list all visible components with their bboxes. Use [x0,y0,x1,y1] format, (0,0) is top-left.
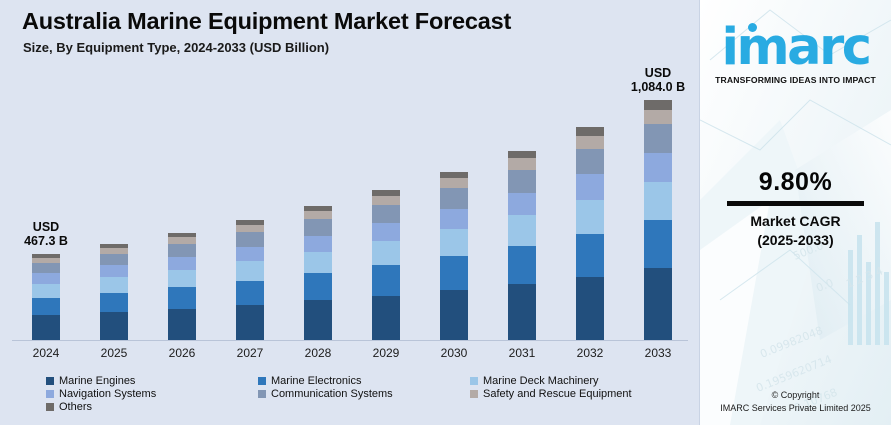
infographic-root: Australia Marine Equipment Market Foreca… [0,0,891,425]
cagr-label-period: (2025-2033) [700,231,891,250]
bar-group-2026[interactable] [148,0,216,341]
legend-label: Communication Systems [271,388,393,400]
bar-segment-marine-electronics[interactable] [508,246,536,284]
x-tick-2026: 2026 [148,346,216,360]
bar-segment-marine-engines[interactable] [304,300,332,341]
logo-wordmark: imarc [722,22,870,74]
brand-panel: 500.0 0.0 1 2 3 4 0.09982048 0.195962071… [700,0,891,425]
stacked-bar[interactable] [440,171,468,341]
x-tick-2033: 2033 [624,346,692,360]
legend-row: Marine EnginesMarine ElectronicsMarine D… [46,374,696,387]
bar-segment-communication-systems[interactable] [32,263,60,273]
stacked-bar[interactable] [576,127,604,341]
bar-segment-marine-engines[interactable] [236,305,264,341]
legend-swatch-icon [258,390,266,398]
bar-segment-safety-and-rescue-equipment[interactable] [372,196,400,205]
x-tick-2030: 2030 [420,346,488,360]
bar-group-2030[interactable] [420,0,488,341]
bar-segment-others[interactable] [440,172,468,179]
x-axis-tick-labels: 2024202520262027202820292030203120322033 [0,344,700,366]
x-tick-2025: 2025 [80,346,148,360]
chart-legend: Marine EnginesMarine ElectronicsMarine D… [46,374,696,413]
bar-group-2031[interactable] [488,0,556,341]
imarc-logo: imarc TRANSFORMING IDEAS INTO IMPACT [700,22,891,85]
legend-item-communication-systems[interactable]: Communication Systems [258,387,470,400]
cagr-value: 9.80% [700,168,891,197]
bar-segment-marine-deck-machinery[interactable] [372,241,400,265]
annotation-unit: USD [618,66,698,80]
bar-group-2032[interactable] [556,0,624,341]
bar-segment-marine-electronics[interactable] [440,256,468,290]
bar-segment-marine-electronics[interactable] [100,293,128,312]
bar-segment-safety-and-rescue-equipment[interactable] [644,110,672,124]
bar-segment-marine-engines[interactable] [440,290,468,341]
bar-segment-marine-engines[interactable] [168,309,196,341]
legend-label: Others [59,401,92,413]
bar-segment-others[interactable] [508,151,536,159]
copyright-line-1: © Copyright [700,389,891,402]
bar-segment-marine-deck-machinery[interactable] [32,284,60,298]
bar-segment-marine-electronics[interactable] [236,281,264,305]
bar-group-2027[interactable] [216,0,284,341]
bar-segment-navigation-systems[interactable] [100,265,128,277]
bar-segment-marine-deck-machinery[interactable] [644,182,672,220]
bar-segment-safety-and-rescue-equipment[interactable] [304,211,332,219]
bar-segment-communication-systems[interactable] [508,170,536,193]
stacked-bar[interactable] [372,190,400,341]
stacked-bar[interactable] [304,206,332,341]
cagr-callout: 9.80% Market CAGR (2025-2033) [700,168,891,250]
cagr-divider [727,201,864,206]
legend-item-navigation-systems[interactable]: Navigation Systems [46,387,258,400]
legend-item-marine-deck-machinery[interactable]: Marine Deck Machinery [470,374,696,387]
legend-item-safety-and-rescue-equipment[interactable]: Safety and Rescue Equipment [470,387,696,400]
legend-row: Others [46,400,696,413]
bar-segment-marine-deck-machinery[interactable] [100,277,128,293]
bar-segment-navigation-systems[interactable] [372,223,400,241]
bar-segment-others[interactable] [644,100,672,110]
bar-group-2033[interactable]: USD1,084.0 B [624,0,692,341]
bar-segment-safety-and-rescue-equipment[interactable] [236,225,264,232]
bar-segment-safety-and-rescue-equipment[interactable] [508,158,536,169]
legend-swatch-icon [258,377,266,385]
stacked-bar[interactable] [644,100,672,341]
legend-swatch-icon [46,377,54,385]
bar-segment-communication-systems[interactable] [304,219,332,235]
legend-label: Marine Deck Machinery [483,375,599,387]
bar-group-2029[interactable] [352,0,420,341]
bar-segment-marine-deck-machinery[interactable] [440,229,468,256]
bar-segment-navigation-systems[interactable] [168,257,196,270]
x-tick-2029: 2029 [352,346,420,360]
bar-segment-marine-electronics[interactable] [576,234,604,277]
legend-item-marine-engines[interactable]: Marine Engines [46,374,258,387]
bar-segment-navigation-systems[interactable] [644,153,672,182]
copyright-block: © Copyright IMARC Services Private Limit… [700,389,891,415]
legend-label: Safety and Rescue Equipment [483,388,632,400]
chart-panel: Australia Marine Equipment Market Foreca… [0,0,700,425]
bar-segment-safety-and-rescue-equipment[interactable] [576,136,604,149]
bar-segment-others[interactable] [576,127,604,136]
bar-segment-communication-systems[interactable] [372,205,400,223]
copyright-line-2: IMARC Services Private Limited 2025 [700,402,891,415]
x-tick-2031: 2031 [488,346,556,360]
bar-group-2024[interactable]: USD467.3 B [12,0,80,341]
x-tick-2027: 2027 [216,346,284,360]
legend-swatch-icon [470,377,478,385]
bar-segment-communication-systems[interactable] [100,254,128,266]
bar-segment-communication-systems[interactable] [576,149,604,175]
logo-dot-icon [748,23,757,32]
bar-value-annotation-2033: USD1,084.0 B [618,66,698,94]
bar-segment-marine-engines[interactable] [644,268,672,341]
bar-segment-navigation-systems[interactable] [508,193,536,216]
bar-segment-marine-deck-machinery[interactable] [576,200,604,234]
legend-label: Marine Engines [59,375,135,387]
bar-segment-marine-electronics[interactable] [304,273,332,300]
bar-segment-communication-systems[interactable] [168,244,196,257]
stacked-bar[interactable] [236,220,264,341]
stacked-bar[interactable] [32,254,60,341]
bar-value-annotation-2024: USD467.3 B [6,220,86,248]
bar-group-2025[interactable] [80,0,148,341]
bar-segment-navigation-systems[interactable] [236,247,264,262]
bar-segment-navigation-systems[interactable] [32,273,60,283]
stacked-bar[interactable] [508,151,536,341]
legend-label: Marine Electronics [271,375,361,387]
bar-segment-marine-deck-machinery[interactable] [508,215,536,245]
legend-swatch-icon [470,390,478,398]
legend-swatch-icon [46,390,54,398]
legend-item-marine-electronics[interactable]: Marine Electronics [258,374,470,387]
legend-swatch-icon [46,403,54,411]
bar-segment-marine-engines[interactable] [508,284,536,341]
stacked-bar[interactable] [100,244,128,341]
bar-segment-marine-electronics[interactable] [32,298,60,315]
annotation-unit: USD [6,220,86,234]
bar-segment-marine-engines[interactable] [32,315,60,341]
legend-label: Navigation Systems [59,388,156,400]
bar-segment-marine-engines[interactable] [100,312,128,341]
bar-segment-navigation-systems[interactable] [576,174,604,200]
bar-segment-marine-deck-machinery[interactable] [236,261,264,280]
bar-segment-marine-deck-machinery[interactable] [168,270,196,287]
x-tick-2032: 2032 [556,346,624,360]
bar-segment-communication-systems[interactable] [644,124,672,153]
bar-segment-marine-engines[interactable] [372,296,400,341]
x-axis-line [12,340,688,341]
legend-row: Navigation SystemsCommunication SystemsS… [46,387,696,400]
bar-segment-marine-deck-machinery[interactable] [304,252,332,274]
bar-segment-navigation-systems[interactable] [440,209,468,229]
bar-segment-marine-engines[interactable] [576,277,604,341]
bar-segment-marine-electronics[interactable] [168,287,196,309]
annotation-value: 1,084.0 B [618,80,698,94]
bar-segment-marine-electronics[interactable] [644,220,672,268]
bar-segment-communication-systems[interactable] [236,232,264,247]
bar-group-2028[interactable] [284,0,352,341]
bar-segment-navigation-systems[interactable] [304,236,332,252]
x-tick-2028: 2028 [284,346,352,360]
bar-segment-communication-systems[interactable] [440,188,468,208]
stacked-bar-chart: USD467.3 BUSD1,084.0 B [0,0,700,341]
annotation-value: 467.3 B [6,234,86,248]
cagr-label-primary: Market CAGR [700,212,891,231]
legend-item-others[interactable]: Others [46,400,258,413]
stacked-bar[interactable] [168,233,196,341]
bar-segment-marine-electronics[interactable] [372,265,400,295]
x-tick-2024: 2024 [12,346,80,360]
bar-segment-safety-and-rescue-equipment[interactable] [440,178,468,188]
